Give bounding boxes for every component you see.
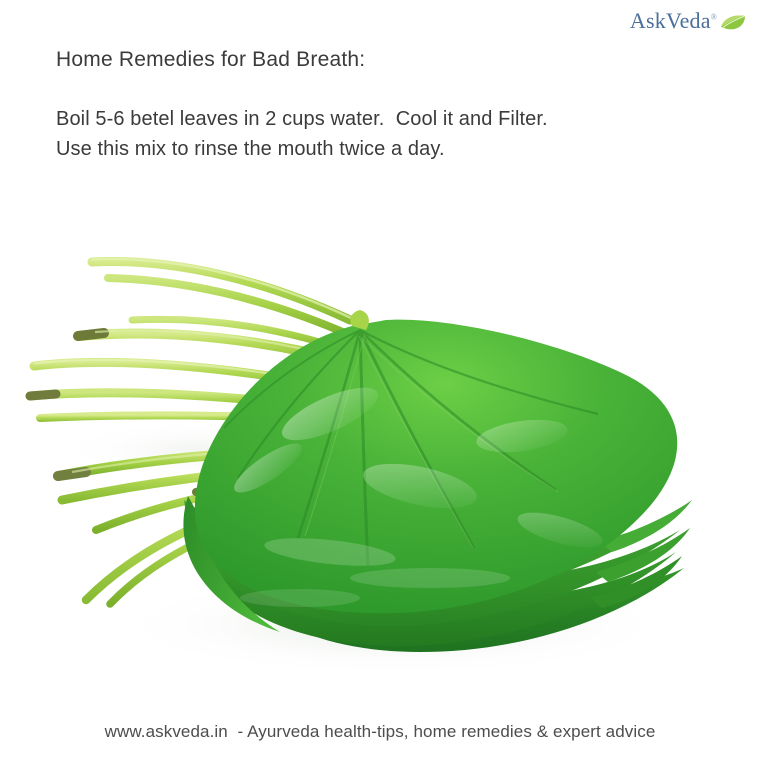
brand-name-text: AskVeda [630, 8, 711, 33]
brand-name: AskVeda® [630, 10, 717, 32]
page-title: Home Remedies for Bad Breath: [56, 48, 365, 72]
remedy-line-2: Use this mix to rinse the mouth twice a … [56, 138, 445, 161]
remedy-line-1: Boil 5-6 betel leaves in 2 cups water. C… [56, 108, 548, 131]
registered-mark: ® [711, 13, 717, 22]
leaf-icon [720, 14, 746, 31]
betel-leaves-photo [0, 200, 760, 700]
poster-canvas: AskVeda® Home Remedies for Bad Breath: B… [0, 0, 760, 760]
footer-tagline: www.askveda.in - Ayurveda health-tips, h… [0, 722, 760, 742]
brand-logo: AskVeda® [630, 10, 746, 32]
